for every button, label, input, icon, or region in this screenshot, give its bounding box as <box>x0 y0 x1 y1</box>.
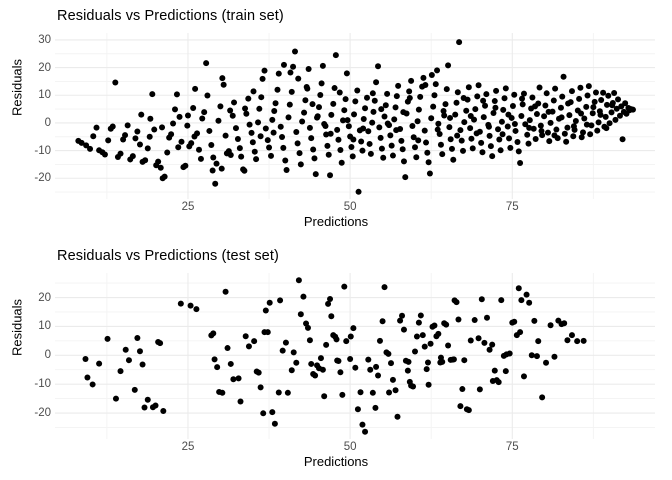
scatter-point <box>289 89 295 95</box>
scatter-point <box>282 158 288 164</box>
scatter-point <box>364 95 370 101</box>
scatter-point <box>256 106 262 112</box>
scatter-point <box>438 355 444 361</box>
scatter-point <box>389 143 395 149</box>
scatter-point <box>199 115 205 121</box>
scatter-point <box>593 89 599 95</box>
scatter-point <box>184 123 190 129</box>
scatter-point <box>307 125 313 131</box>
scatter-point <box>573 118 579 124</box>
scatter-point <box>380 155 386 161</box>
scatter-point <box>578 111 584 117</box>
scatter-point <box>315 113 321 119</box>
x-tick-label: 50 <box>344 441 357 453</box>
scatter-point <box>308 135 314 141</box>
scatter-point <box>428 341 434 347</box>
scatter-point <box>286 114 292 120</box>
scatter-point <box>118 368 124 374</box>
scatter-point <box>630 107 636 113</box>
scatter-point <box>431 92 437 98</box>
scatter-point <box>203 60 209 66</box>
scatter-point <box>418 312 424 318</box>
scatter-point <box>110 124 116 130</box>
scatter-point <box>544 90 550 96</box>
scatter-point <box>367 367 373 373</box>
scatter-point <box>446 124 452 130</box>
scatter-point <box>241 168 247 174</box>
scatter-point <box>493 88 499 94</box>
scatter-point <box>401 158 407 164</box>
scatter-point <box>393 387 399 393</box>
scatter-points <box>82 277 586 435</box>
scatter-point <box>558 105 564 111</box>
scatter-point <box>281 62 287 68</box>
scatter-point <box>420 75 426 81</box>
scatter-point <box>102 151 108 157</box>
scatter-point <box>251 338 257 344</box>
scatter-point <box>170 120 176 126</box>
scatter-point <box>529 352 535 358</box>
scatter-point <box>369 120 375 126</box>
scatter-point <box>82 356 88 362</box>
scatter-point <box>529 94 535 100</box>
scatter-point <box>219 75 225 81</box>
scatter-point <box>511 319 517 325</box>
scatter-point <box>379 146 385 152</box>
scatter-point <box>324 143 330 149</box>
scatter-point <box>445 62 451 68</box>
scatter-point <box>398 138 404 144</box>
scatter-point <box>112 80 118 86</box>
scatter-point <box>382 114 388 120</box>
scatter-point <box>441 108 447 114</box>
scatter-point <box>308 361 314 367</box>
scatter-point <box>535 338 541 344</box>
scatter-point <box>269 409 275 415</box>
scatter-point <box>564 337 570 343</box>
x-tick-label: 25 <box>182 201 195 213</box>
scatter-point <box>577 85 583 91</box>
scatter-point <box>272 421 278 427</box>
scatter-point <box>132 135 138 141</box>
scatter-point <box>359 148 365 154</box>
scatter-point <box>210 155 216 161</box>
scatter-point <box>231 99 237 105</box>
x-tick-label: 75 <box>506 201 519 213</box>
y-tick-label: 10 <box>5 89 51 101</box>
scatter-point <box>358 138 364 144</box>
scatter-point <box>527 117 533 123</box>
scatter-point <box>503 85 509 91</box>
scatter-point <box>230 376 236 382</box>
scatter-point <box>590 104 596 110</box>
scatter-point <box>393 127 399 133</box>
scatter-point <box>551 98 557 104</box>
scatter-point <box>511 92 517 98</box>
scatter-point <box>474 93 480 99</box>
scatter-point <box>516 285 522 291</box>
scatter-point <box>210 330 216 336</box>
scatter-point <box>350 153 356 159</box>
scatter-point <box>343 96 349 102</box>
scatter-point <box>412 349 418 355</box>
scatter-point <box>390 377 396 383</box>
scatter-point <box>571 123 577 129</box>
y-tick-label: -20 <box>5 407 51 419</box>
scatter-point <box>160 408 166 414</box>
scatter-point <box>388 360 394 366</box>
scatter-point <box>620 136 626 142</box>
scatter-point <box>365 357 371 363</box>
panel-test-scatter-svg <box>55 273 655 439</box>
scatter-point <box>223 133 229 139</box>
scatter-point <box>301 110 307 116</box>
scatter-point <box>423 140 429 146</box>
scatter-point <box>517 160 523 166</box>
scatter-point <box>438 142 444 148</box>
scatter-point <box>266 145 272 151</box>
scatter-point <box>249 130 255 136</box>
scatter-point <box>611 90 617 96</box>
scatter-point <box>466 407 472 413</box>
scatter-point <box>334 336 340 342</box>
scatter-point <box>526 300 532 306</box>
scatter-point <box>263 308 269 314</box>
scatter-point <box>561 320 567 326</box>
scatter-point <box>507 145 513 151</box>
scatter-point <box>263 125 269 131</box>
scatter-point <box>359 422 365 428</box>
scatter-point <box>580 129 586 135</box>
scatter-point <box>448 136 454 142</box>
scatter-point <box>367 141 373 147</box>
scatter-point <box>149 91 155 97</box>
scatter-point <box>164 150 170 156</box>
scatter-point <box>172 106 178 112</box>
scatter-point <box>250 88 256 94</box>
scatter-point <box>159 124 165 130</box>
scatter-point <box>455 316 461 322</box>
scatter-point <box>416 320 422 326</box>
scatter-point <box>490 110 496 116</box>
scatter-point <box>142 405 148 411</box>
scatter-point <box>457 403 463 409</box>
scatter-point <box>310 101 316 107</box>
scatter-point <box>495 126 501 132</box>
scatter-point <box>375 372 381 378</box>
scatter-point <box>570 133 576 139</box>
scatter-point <box>454 299 460 305</box>
scatter-point <box>317 92 323 98</box>
scatter-point <box>293 129 299 135</box>
panel-test-plot-area <box>55 273 655 439</box>
scatter-point <box>489 342 495 348</box>
scatter-point <box>125 122 131 128</box>
scatter-point <box>343 338 349 344</box>
scatter-point <box>468 113 474 119</box>
scatter-point <box>130 153 136 159</box>
scatter-point <box>192 86 198 92</box>
scatter-point <box>478 140 484 146</box>
scatter-point <box>439 151 445 157</box>
scatter-point <box>434 67 440 73</box>
scatter-point <box>607 120 613 126</box>
scatter-point <box>609 109 615 115</box>
scatter-point <box>470 145 476 151</box>
scatter-point <box>362 105 368 111</box>
scatter-point <box>433 81 439 87</box>
scatter-point <box>454 133 460 139</box>
scatter-point <box>372 405 378 411</box>
scatter-point <box>586 83 592 89</box>
y-tick-label: 0 <box>5 117 51 129</box>
scatter-point <box>268 153 274 159</box>
scatter-point <box>228 152 234 158</box>
scatter-point <box>341 284 347 290</box>
scatter-point <box>488 143 494 149</box>
scatter-point <box>190 105 196 111</box>
scatter-point <box>345 117 351 123</box>
scatter-point <box>609 102 615 108</box>
scatter-point <box>225 345 231 351</box>
scatter-point <box>435 127 441 133</box>
scatter-point <box>394 414 400 420</box>
scatter-point <box>561 74 567 80</box>
scatter-point <box>318 355 324 361</box>
scatter-point <box>584 122 590 128</box>
scatter-point <box>269 117 275 123</box>
scatter-point <box>274 87 280 93</box>
scatter-point <box>105 137 111 143</box>
scatter-point <box>585 93 591 99</box>
scatter-point <box>147 134 153 140</box>
scatter-point <box>153 403 159 409</box>
x-tick-label: 25 <box>182 441 195 453</box>
scatter-point <box>387 132 393 138</box>
y-tick-label: 20 <box>5 62 51 74</box>
scatter-point <box>422 344 428 350</box>
scatter-point <box>208 142 214 148</box>
scatter-point <box>330 101 336 107</box>
scatter-point <box>569 88 575 94</box>
scatter-point <box>140 362 146 368</box>
scatter-point <box>424 150 430 156</box>
scatter-point <box>480 98 486 104</box>
scatter-point <box>395 83 401 89</box>
scatter-point <box>337 89 343 95</box>
scatter-point <box>145 397 151 403</box>
scatter-point <box>147 116 153 122</box>
scatter-point <box>400 109 406 115</box>
scatter-point <box>138 112 144 118</box>
scatter-point <box>137 348 143 354</box>
scatter-point <box>393 104 399 110</box>
scatter-point <box>212 181 218 187</box>
scatter-point <box>603 114 609 120</box>
scatter-point <box>245 96 251 102</box>
scatter-point <box>377 338 383 344</box>
scatter-point <box>447 115 453 121</box>
scatter-point <box>390 153 396 159</box>
scatter-point <box>252 149 258 155</box>
scatter-point <box>461 95 467 101</box>
scatter-points <box>75 39 636 195</box>
scatter-point <box>278 124 284 130</box>
scatter-point <box>230 113 236 119</box>
scatter-point <box>476 82 482 88</box>
scatter-point <box>260 76 266 82</box>
scatter-point <box>526 125 532 131</box>
scatter-point <box>339 392 345 398</box>
scatter-point <box>531 318 537 324</box>
scatter-point <box>502 95 508 101</box>
scatter-point <box>370 390 376 396</box>
scatter-point <box>258 94 264 100</box>
scatter-point <box>227 107 233 113</box>
scatter-point <box>291 349 297 355</box>
scatter-point <box>454 100 460 106</box>
scatter-point <box>265 137 271 143</box>
panel-train-scatter-svg <box>55 33 655 199</box>
scatter-point <box>513 128 519 134</box>
scatter-point <box>250 139 256 145</box>
scatter-point <box>429 72 435 78</box>
scatter-point <box>158 165 164 171</box>
scatter-point <box>358 389 364 395</box>
scatter-point <box>581 338 587 344</box>
scatter-point <box>256 370 262 376</box>
scatter-point <box>386 390 392 396</box>
scatter-point <box>427 171 433 177</box>
scatter-point <box>460 148 466 154</box>
scatter-point <box>445 342 451 348</box>
scatter-point <box>472 317 478 323</box>
scatter-point <box>312 372 318 378</box>
scatter-point <box>243 111 249 117</box>
scatter-point <box>378 106 384 112</box>
scatter-point <box>356 189 362 195</box>
scatter-point <box>238 154 244 160</box>
scatter-point <box>299 119 305 125</box>
scatter-point <box>598 97 604 103</box>
y-tick-label: -20 <box>5 172 51 184</box>
scatter-point <box>413 154 419 160</box>
scatter-point <box>524 292 530 298</box>
scatter-point <box>335 358 341 364</box>
scatter-point <box>408 78 414 84</box>
scatter-point <box>516 148 522 154</box>
scatter-point <box>295 140 301 146</box>
panel-test-title: Residuals vs Predictions (test set) <box>57 248 279 264</box>
scatter-point <box>335 137 341 143</box>
scatter-point <box>512 121 518 127</box>
scatter-point <box>305 325 311 331</box>
scatter-point <box>468 338 474 344</box>
scatter-point <box>612 117 618 123</box>
scatter-point <box>206 128 212 134</box>
scatter-point <box>215 118 221 124</box>
scatter-point <box>537 85 543 91</box>
scatter-point <box>375 63 381 69</box>
scatter-point <box>424 366 430 372</box>
scatter-point <box>142 157 148 163</box>
scatter-point <box>405 368 411 374</box>
scatter-point <box>287 70 293 76</box>
scatter-point <box>415 137 421 143</box>
scatter-point <box>505 112 511 118</box>
scatter-point <box>292 49 298 55</box>
scatter-point <box>253 156 259 162</box>
scatter-point <box>333 52 339 58</box>
scatter-point <box>327 172 333 178</box>
scatter-point <box>328 313 334 319</box>
scatter-point <box>507 351 513 357</box>
scatter-point <box>337 369 343 375</box>
scatter-point <box>320 63 326 69</box>
scatter-point <box>87 146 93 152</box>
scatter-point <box>370 109 376 115</box>
scatter-point <box>605 93 611 99</box>
scatter-point <box>496 379 502 385</box>
scatter-point <box>322 123 328 129</box>
scatter-point <box>542 102 548 108</box>
scatter-point <box>486 124 492 130</box>
scatter-point <box>477 386 483 392</box>
scatter-point <box>545 130 551 136</box>
scatter-point <box>339 160 345 166</box>
scatter-point <box>260 410 266 416</box>
scatter-point <box>479 296 485 302</box>
scatter-point <box>498 297 504 303</box>
scatter-point <box>400 146 406 152</box>
scatter-point <box>492 368 498 374</box>
scatter-point <box>351 111 357 117</box>
scatter-point <box>417 94 423 100</box>
scatter-point <box>394 93 400 99</box>
scatter-point <box>347 356 353 362</box>
scatter-point <box>298 161 304 167</box>
scatter-point <box>271 130 277 136</box>
scatter-point <box>217 103 223 109</box>
scatter-point <box>316 104 322 110</box>
scatter-point <box>563 139 569 145</box>
scatter-point <box>583 104 589 110</box>
scatter-point <box>321 393 327 399</box>
scatter-point <box>565 101 571 107</box>
scatter-point <box>276 71 282 77</box>
panel-train-plot-area <box>55 33 655 199</box>
scatter-point <box>373 79 379 85</box>
scatter-point <box>430 104 436 110</box>
scatter-point <box>300 294 306 300</box>
scatter-point <box>472 106 478 112</box>
scatter-point <box>385 120 391 126</box>
scatter-point <box>352 98 358 104</box>
scatter-point <box>435 121 441 127</box>
scatter-point <box>431 323 437 329</box>
scatter-point <box>489 153 495 159</box>
scatter-point <box>346 123 352 129</box>
scatter-point <box>428 115 434 121</box>
scatter-point <box>539 394 545 400</box>
panel-train-x-axis-title: Predictions <box>0 214 672 229</box>
scatter-point <box>210 168 216 174</box>
panel-train: Residuals vs Predictions (train set) Res… <box>0 0 672 240</box>
scatter-point <box>479 149 485 155</box>
scatter-point <box>551 354 557 360</box>
scatter-point <box>277 297 283 303</box>
scatter-point <box>548 120 554 126</box>
